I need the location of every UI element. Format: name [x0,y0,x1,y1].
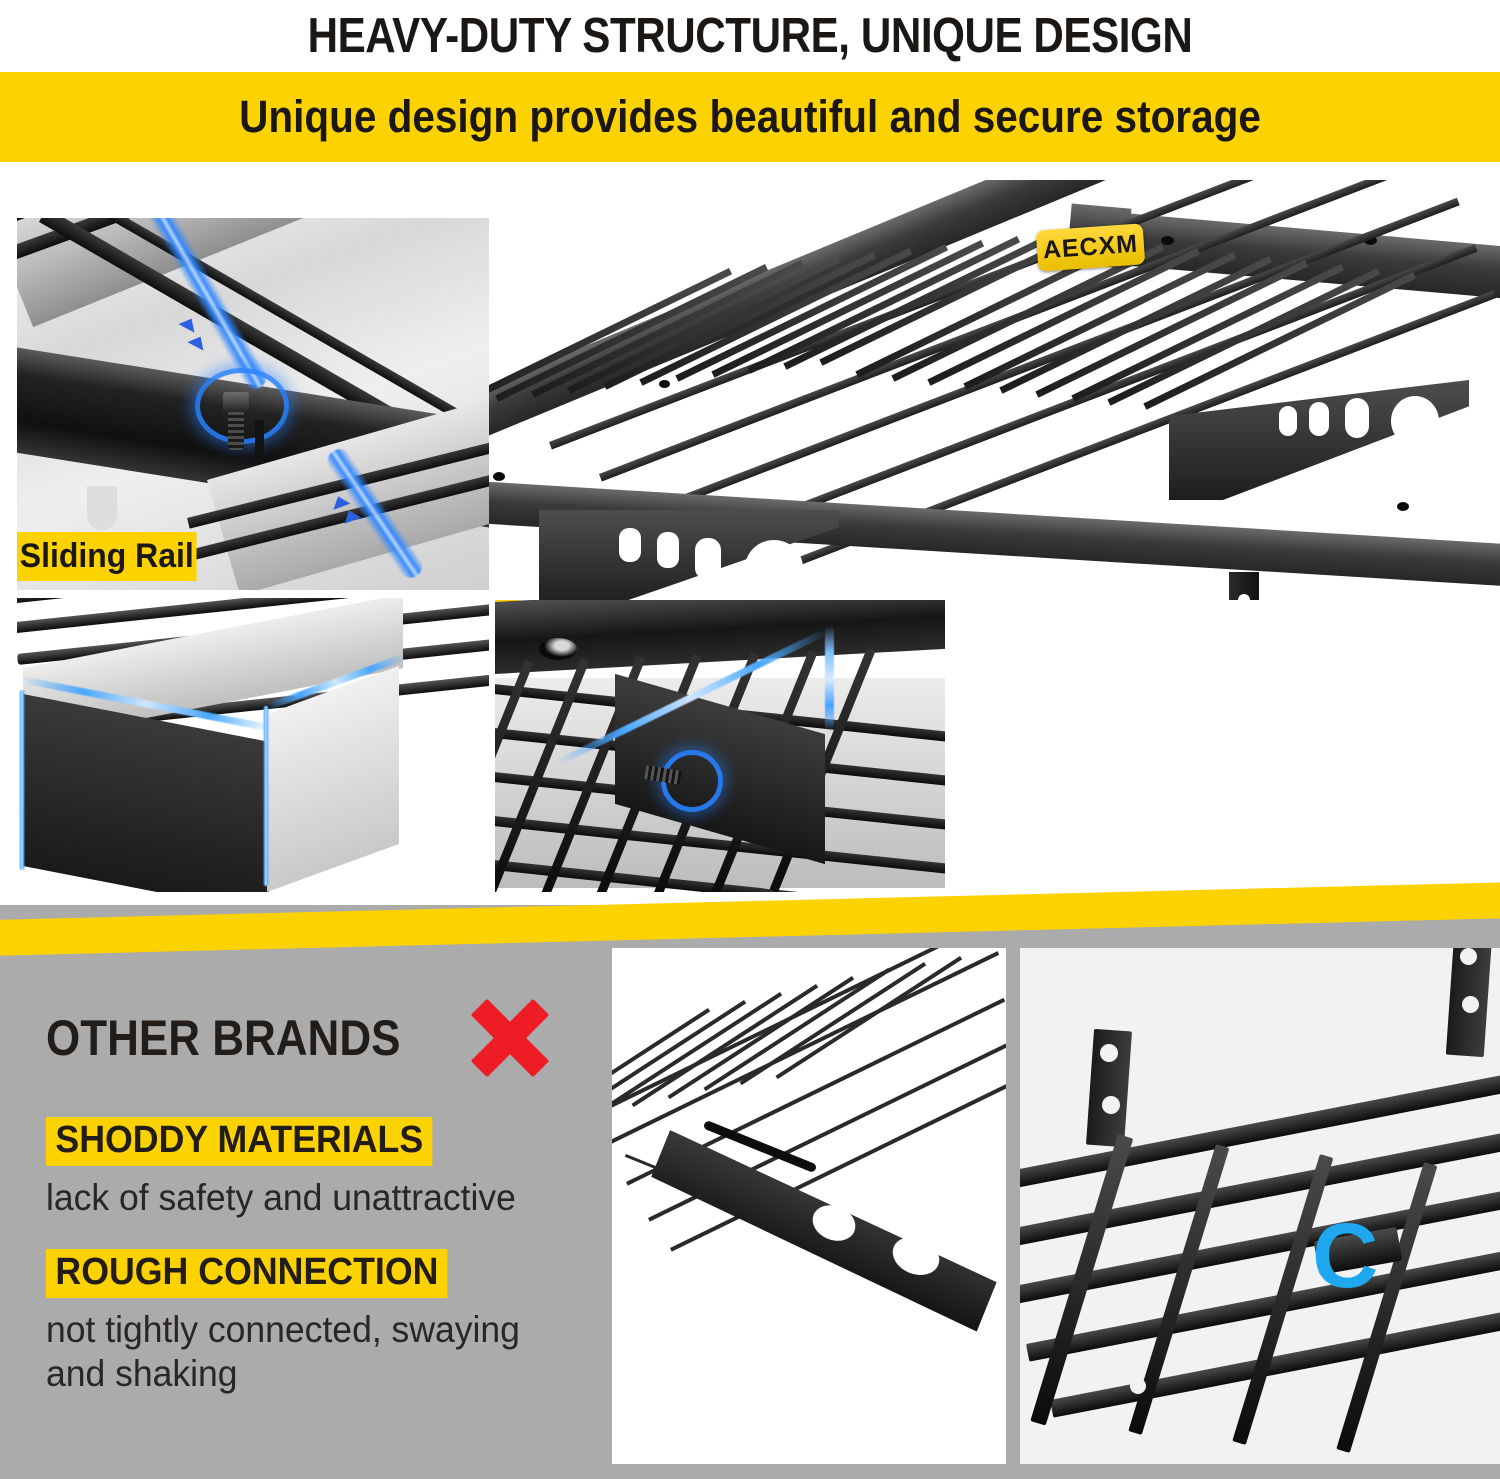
chevron-arrow-icon [178,314,199,332]
bullet-headline: SHODDY MATERIALS [46,1117,433,1166]
hero-product-shelf-photo: AECXM [489,180,1500,600]
page-title: HEAVY-DUTY STRUCTURE, UNIQUE DESIGN [105,2,1395,70]
product-infographic: HEAVY-DUTY STRUCTURE, UNIQUE DESIGN Uniq… [0,0,1500,1479]
bullet-body: lack of safety and unattractive [46,1176,516,1220]
other-brands-label: OTHER BRANDS [46,1009,400,1067]
chevron-arrow-icon [187,332,208,350]
corner-edge-closeup-photo [17,598,489,892]
competitor-bar-rack-photo: C [1020,948,1500,1464]
screw-connection-closeup-photo [495,600,945,892]
bullet-rough-connection: ROUGH CONNECTION not tightly connected, … [46,1249,606,1395]
bullet-shoddy-materials: SHODDY MATERIALS lack of safety and unat… [46,1117,536,1220]
sliding-rail-caption-badge: Sliding Rail [17,532,197,581]
aecxm-brand-badge: AECXM [1036,223,1146,271]
competitor-wire-shelf-photo [612,948,1006,1464]
bullet-headline: ROUGH CONNECTION [46,1249,448,1298]
bullet-body: not tightly connected, swaying and shaki… [46,1308,584,1395]
blue-callout-mark-icon: C [1312,1210,1378,1302]
x-mark-icon [467,995,553,1081]
other-brands-heading: OTHER BRANDS [46,995,553,1081]
page-subtitle: Unique design provides beautiful and sec… [75,72,1425,162]
